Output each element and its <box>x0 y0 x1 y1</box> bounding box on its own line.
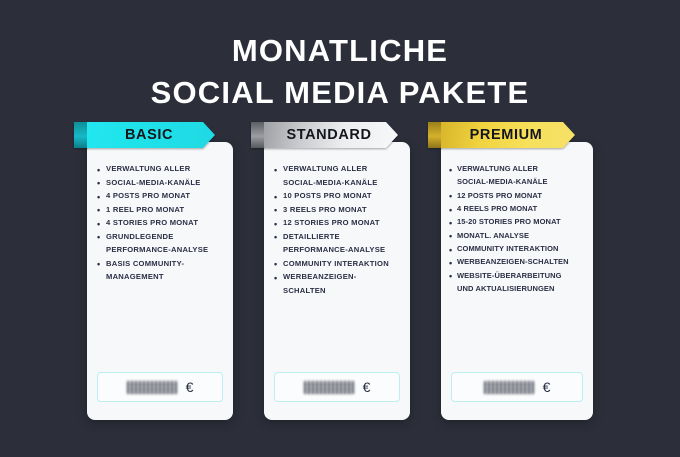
list-item: GRUNDLEGENDE <box>95 230 225 244</box>
price-box-basic[interactable]: € <box>97 372 223 402</box>
currency-symbol: € <box>543 380 551 394</box>
card-body-standard: VERWALTUNG ALLER SOCIAL-MEDIA-KANÄLE 10 … <box>264 142 410 420</box>
list-item: BASIS COMMUNITY- <box>95 257 225 271</box>
page-title: MONATLICHE SOCIAL MEDIA PAKETE <box>0 0 680 113</box>
list-item: UND AKTUALISIERUNGEN <box>449 282 585 295</box>
spacer <box>272 297 402 372</box>
plan-ribbon-standard: STANDARD <box>251 122 398 148</box>
ribbon-tail-icon <box>74 122 87 148</box>
list-item: SOCIAL-MEDIA-KANÄLE <box>95 176 225 190</box>
list-item: DETAILLIERTE <box>272 230 402 244</box>
feature-list-standard: VERWALTUNG ALLER SOCIAL-MEDIA-KANÄLE 10 … <box>272 162 402 297</box>
pricing-card-premium[interactable]: PREMIUM VERWALTUNG ALLER SOCIAL-MEDIA-KA… <box>441 122 593 420</box>
list-item: VERWALTUNG ALLER <box>449 162 585 175</box>
list-item: COMMUNITY INTERAKTION <box>449 242 585 255</box>
list-item: COMMUNITY INTERAKTION <box>272 257 402 271</box>
price-redacted-value <box>304 381 354 394</box>
ribbon-body: PREMIUM <box>441 122 575 148</box>
price-redacted-value <box>484 381 534 394</box>
ribbon-body: STANDARD <box>264 122 398 148</box>
pricing-card-basic[interactable]: BASIC VERWALTUNG ALLER SOCIAL-MEDIA-KANÄ… <box>87 122 233 420</box>
price-box-standard[interactable]: € <box>274 372 400 402</box>
plan-name-basic: BASIC <box>125 127 173 143</box>
list-item: VERWALTUNG ALLER <box>272 162 402 176</box>
feature-list-premium: VERWALTUNG ALLER SOCIAL-MEDIA-KANÄLE 12 … <box>449 162 585 295</box>
list-item: 3 REELS PRO MONAT <box>272 203 402 217</box>
list-item: 15-20 STORIES PRO MONAT <box>449 215 585 228</box>
ribbon-body: BASIC <box>87 122 215 148</box>
page-title-line-2: SOCIAL MEDIA PAKETE <box>0 72 680 114</box>
list-item: SOCIAL-MEDIA-KANÄLE <box>449 175 585 188</box>
feature-list-basic: VERWALTUNG ALLER SOCIAL-MEDIA-KANÄLE 4 P… <box>95 162 225 284</box>
list-item: WERBEANZEIGEN-SCHALTEN <box>449 255 585 268</box>
list-item: 4 POSTS PRO MONAT <box>95 189 225 203</box>
list-item: PERFORMANCE-ANALYSE <box>95 243 225 257</box>
spacer <box>95 284 225 372</box>
currency-symbol: € <box>363 380 371 394</box>
spacer <box>449 295 585 372</box>
list-item: 4 STORIES PRO MONAT <box>95 216 225 230</box>
currency-symbol: € <box>186 380 194 394</box>
list-item: 12 STORIES PRO MONAT <box>272 216 402 230</box>
ribbon-tail-icon <box>428 122 441 148</box>
price-redacted-value <box>127 381 177 394</box>
plan-ribbon-premium: PREMIUM <box>428 122 575 148</box>
list-item: WERBEANZEIGEN- <box>272 270 402 284</box>
page-title-line-1: MONATLICHE <box>0 30 680 72</box>
pricing-cards-row: BASIC VERWALTUNG ALLER SOCIAL-MEDIA-KANÄ… <box>0 122 680 420</box>
list-item: 10 POSTS PRO MONAT <box>272 189 402 203</box>
list-item: WEBSITE-ÜBERARBEITUNG <box>449 269 585 282</box>
pricing-card-standard[interactable]: STANDARD VERWALTUNG ALLER SOCIAL-MEDIA-K… <box>264 122 410 420</box>
list-item: 4 REELS PRO MONAT <box>449 202 585 215</box>
plan-name-premium: PREMIUM <box>470 127 543 143</box>
plan-ribbon-basic: BASIC <box>74 122 215 148</box>
list-item: MANAGEMENT <box>95 270 225 284</box>
list-item: 12 POSTS PRO MONAT <box>449 189 585 202</box>
list-item: PERFORMANCE-ANALYSE <box>272 243 402 257</box>
plan-name-standard: STANDARD <box>286 127 371 143</box>
list-item: VERWALTUNG ALLER <box>95 162 225 176</box>
card-body-basic: VERWALTUNG ALLER SOCIAL-MEDIA-KANÄLE 4 P… <box>87 142 233 420</box>
list-item: MONATL. ANALYSE <box>449 229 585 242</box>
ribbon-tail-icon <box>251 122 264 148</box>
list-item: SOCIAL-MEDIA-KANÄLE <box>272 176 402 190</box>
list-item: 1 REEL PRO MONAT <box>95 203 225 217</box>
card-body-premium: VERWALTUNG ALLER SOCIAL-MEDIA-KANÄLE 12 … <box>441 142 593 420</box>
list-item: SCHALTEN <box>272 284 402 298</box>
price-box-premium[interactable]: € <box>451 372 583 402</box>
